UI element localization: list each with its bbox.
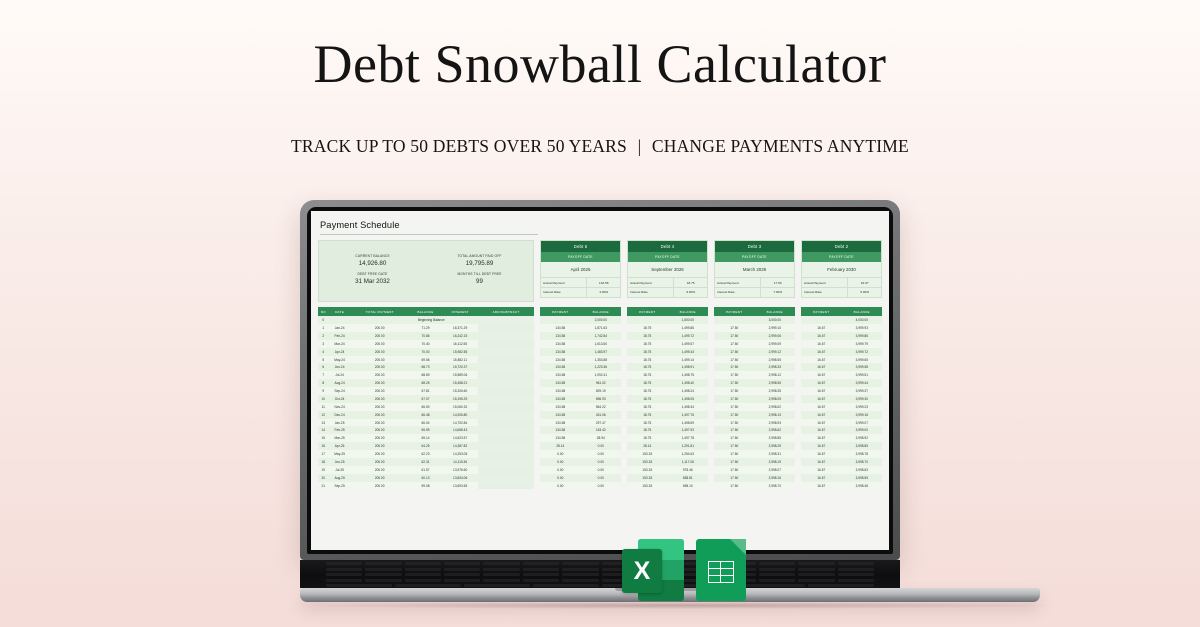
cell-balance: 1,483.97	[581, 348, 621, 356]
cell-balance: 3,999.16	[842, 411, 882, 419]
keyboard-key	[326, 562, 362, 565]
table-row[interactable]: 134.581,483.97	[540, 348, 621, 356]
table-row[interactable]: 134.581,353.88	[540, 356, 621, 364]
table-row[interactable]: 134.58961.02	[540, 379, 621, 387]
table-row[interactable]: 17.502,998.16	[714, 474, 795, 482]
cell-add-subtract[interactable]	[478, 363, 534, 371]
cell-add-subtract[interactable]	[478, 419, 534, 427]
cell-payment: 17.50	[714, 363, 755, 371]
payment-table-header-row: PAYMENTBALANCE	[801, 307, 882, 316]
cell-balance: 70.00	[409, 348, 442, 356]
cell-balance: 1,117.06	[668, 458, 708, 466]
cell-no: 13	[318, 419, 329, 427]
column-header[interactable]: PAYMENT	[540, 307, 581, 316]
cell-balance: 71.29	[409, 324, 442, 332]
cell-total-payment: 200.00	[351, 474, 409, 482]
cell-add-subtract[interactable]	[478, 332, 534, 340]
cell-total-payment: 200.00	[351, 411, 409, 419]
table-row[interactable]: 16.673,999.23	[801, 403, 882, 411]
debt-card-title: Debt 5	[541, 241, 620, 252]
cell-date: Nov-24	[329, 403, 351, 411]
cell-no: 7	[318, 371, 329, 379]
table-row[interactable]: 18.751,498.91	[627, 363, 708, 371]
payoff-date-value: April 2025	[541, 262, 620, 278]
cell-add-subtract[interactable]	[478, 450, 534, 458]
table-row[interactable]: 17.502,998.35	[714, 387, 795, 395]
cell-payment: 134.58	[540, 387, 581, 395]
table-row[interactable]: 16.673,998.70	[801, 458, 882, 466]
cell-interest: 14,926.80	[442, 411, 478, 419]
table-row[interactable]: 134.58431.06	[540, 411, 621, 419]
cell-payment: 16.67	[801, 482, 842, 490]
column-header[interactable]: PAYMENT	[801, 307, 842, 316]
cell-balance: 961.02	[581, 379, 621, 387]
cell-balance: 3,999.07	[842, 419, 882, 427]
cell-add-subtract[interactable]	[478, 442, 534, 450]
table-row[interactable]: 12Dec-24200.0066.4814,926.80	[318, 411, 534, 419]
table-row[interactable]: 28.140.00	[540, 442, 621, 450]
keyboard-row	[326, 568, 874, 571]
cell-payment: 18.75	[627, 332, 668, 340]
table-row[interactable]: 16.673,999.30	[801, 395, 882, 403]
cell-date: Aug-25	[329, 474, 351, 482]
table-row[interactable]: 134.581,223.36	[540, 363, 621, 371]
cell-date: Feb-24	[329, 332, 351, 340]
table-row[interactable]: 20Aug-25200.0060.1313,834.06	[318, 474, 534, 482]
table-row[interactable]: 17.502,998.05	[714, 395, 795, 403]
cell-payment: 18.75	[627, 363, 668, 371]
cell-interest: 15,326.60	[442, 387, 478, 395]
cell-balance: 3,999.30	[842, 395, 882, 403]
table-row[interactable]: 17.502,998.93	[714, 419, 795, 427]
cell-balance: 2,998.19	[755, 458, 795, 466]
payoff-date-label: PAYOFF DATE	[715, 252, 794, 261]
cell-balance: 64.25	[409, 442, 442, 450]
table-row[interactable]: 153.33838.81	[627, 474, 708, 482]
cell-balance: 431.06	[581, 411, 621, 419]
payment-schedule-table: NODATETOTAL PAYMENTBALANCEINTERESTADD/SU…	[318, 307, 534, 489]
keyboard-key	[483, 562, 519, 565]
cell-balance: 564.22	[581, 403, 621, 411]
cell-balance: 65.14	[409, 434, 442, 442]
table-row[interactable]: 8Aug-24200.0068.2515,458.21	[318, 379, 534, 387]
cell-balance: 1,742.84	[581, 332, 621, 340]
cell-no: 16	[318, 442, 329, 450]
debt-card: Debt 2PAYOFF DATEFebruary 2030Actual Pay…	[801, 240, 882, 298]
column-header[interactable]: BALANCE	[581, 307, 621, 316]
table-row[interactable]: 1,500.00	[627, 316, 708, 324]
cell-balance: 2,999.06	[755, 332, 795, 340]
column-header[interactable]: ADD/SUBTRACT	[478, 307, 534, 316]
cell-date: May-25	[329, 450, 351, 458]
cell-balance: 62.31	[409, 458, 442, 466]
table-row[interactable]: 16.673,999.72	[801, 348, 882, 356]
table-row[interactable]: 17.502,998.62	[714, 403, 795, 411]
cell-balance: 2,998.13	[755, 411, 795, 419]
cell-payment: 17.50	[714, 442, 755, 450]
keyboard-key	[523, 573, 559, 576]
cell-no: 4	[318, 348, 329, 356]
debt-payment-table: PAYMENTBALANCE4,000.0016.673,999.9316.67…	[801, 307, 882, 489]
column-header[interactable]: PAYMENT	[627, 307, 668, 316]
cell-total-payment: 200.00	[351, 450, 409, 458]
column-header[interactable]: BALANCE	[409, 307, 442, 316]
table-row[interactable]: 4,000.00	[801, 316, 882, 324]
cell-payment: 153.33	[627, 466, 668, 474]
cell-balance: 297.47	[581, 419, 621, 427]
table-row[interactable]: 153.33698.10	[627, 482, 708, 490]
cell-no: 3	[318, 340, 329, 348]
cell-payment: 18.75	[627, 340, 668, 348]
table-row[interactable]: 16.673,999.37	[801, 387, 882, 395]
table-row[interactable]: 2,000.00	[540, 316, 621, 324]
cell-payment	[627, 316, 668, 324]
cell-no: 12	[318, 411, 329, 419]
keyboard-key	[405, 568, 441, 571]
cell-balance: 1,499.72	[668, 332, 708, 340]
cell-interest: 14,253.05	[442, 450, 478, 458]
table-row[interactable]: 15Mar-25200.0065.1414,523.57	[318, 434, 534, 442]
cell-interest: 16,112.55	[442, 340, 478, 348]
table-row[interactable]: 0.000.00	[540, 474, 621, 482]
debt-card-title: Debt 4	[628, 241, 707, 252]
cell-date: Oct-24	[329, 395, 351, 403]
cell-payment: 153.33	[627, 482, 668, 490]
cell-balance: 163.42	[581, 426, 621, 434]
keyboard-key	[798, 579, 834, 582]
table-row[interactable]: 1Jan-24200.0071.2916,371.29	[318, 324, 534, 332]
table-row[interactable]: 134.58163.42	[540, 426, 621, 434]
cell-payment: 17.50	[714, 411, 755, 419]
spreadsheet-title: Payment Schedule	[318, 219, 882, 234]
table-row[interactable]: 16.673,999.51	[801, 371, 882, 379]
cell-balance: 66.48	[409, 411, 442, 419]
table-row[interactable]: 11Nov-24200.0066.5015,060.32	[318, 403, 534, 411]
table-row[interactable]: 16.673,998.85	[801, 442, 882, 450]
keyboard-key	[483, 573, 519, 576]
table-row[interactable]: 16.673,999.44	[801, 379, 882, 387]
interest-rate-row: Interest Rate4.00%	[541, 287, 620, 297]
table-row[interactable]: 16.673,999.58	[801, 363, 882, 371]
payoff-date-value: February 2030	[802, 262, 881, 278]
table-row[interactable]: 3Mar-24200.0070.4016,112.55	[318, 340, 534, 348]
column-header[interactable]: NO	[318, 307, 329, 316]
table-row[interactable]: 17.502,998.55	[714, 379, 795, 387]
interest-rate-value: 9.00%	[674, 288, 707, 297]
table-row[interactable]: 19Jul-25200.0061.5713,976.60	[318, 466, 534, 474]
table-row[interactable]: 7Jul-24200.0068.6915,589.06	[318, 371, 534, 379]
table-row[interactable]: 18.751,499.57	[627, 340, 708, 348]
cell-add-subtract[interactable]	[478, 371, 534, 379]
table-row[interactable]: 16.673,998.92	[801, 434, 882, 442]
table-row[interactable]: 0Beginning Balance	[318, 316, 534, 324]
table-row[interactable]: 134.58564.22	[540, 403, 621, 411]
cell-total-payment: 200.00	[351, 403, 409, 411]
table-row[interactable]: 0.000.00	[540, 482, 621, 490]
interest-rate-value: 5.00%	[848, 288, 881, 297]
cell-date: Apr-24	[329, 348, 351, 356]
cell-balance: 3,999.86	[842, 332, 882, 340]
table-row[interactable]: 17.502,999.09	[714, 340, 795, 348]
table-row[interactable]: 17.502,998.07	[714, 466, 795, 474]
column-header[interactable]: INTEREST	[442, 307, 478, 316]
cell-balance: 2,998.62	[755, 426, 795, 434]
cell-total-payment: 200.00	[351, 426, 409, 434]
table-row[interactable]: 17.502,998.19	[714, 458, 795, 466]
cell-payment: 17.50	[714, 450, 755, 458]
cell-add-subtract[interactable]	[478, 387, 534, 395]
keyboard-key	[523, 568, 559, 571]
keyboard-key	[798, 562, 834, 565]
table-row[interactable]: 18.751,499.86	[627, 324, 708, 332]
table-row[interactable]: 17.502,998.70	[714, 482, 795, 490]
cell-no: 5	[318, 356, 329, 364]
cell-payment: 17.50	[714, 379, 755, 387]
table-row[interactable]: 17.502,998.13	[714, 411, 795, 419]
cell-add-subtract[interactable]	[478, 434, 534, 442]
table-row[interactable]: 18Jun-25200.0062.3114,115.36	[318, 458, 534, 466]
table-row[interactable]: 16.673,999.07	[801, 419, 882, 427]
table-row[interactable]: 18.751,497.75	[627, 411, 708, 419]
cell-payment: 16.67	[801, 379, 842, 387]
cell-add-subtract[interactable]	[478, 356, 534, 364]
cell-payment: 134.58	[540, 348, 581, 356]
table-row[interactable]: 0.000.00	[540, 450, 621, 458]
cell-add-subtract[interactable]	[478, 458, 534, 466]
cell-balance: 0.00	[581, 482, 621, 490]
cell-payment: 17.50	[714, 371, 755, 379]
cell-interest: 14,658.43	[442, 426, 478, 434]
cell-balance: 2,999.10	[755, 324, 795, 332]
table-row[interactable]: 18.751,497.78	[627, 434, 708, 442]
cell-balance: 3,999.44	[842, 379, 882, 387]
keyboard-key	[808, 584, 874, 587]
laptop-bezel: Payment Schedule CURRENT BALANCE 14,926.…	[307, 207, 893, 554]
table-row[interactable]: 16.673,998.78	[801, 450, 882, 458]
cell-balance: 2,998.35	[755, 387, 795, 395]
cell-add-subtract[interactable]	[478, 403, 534, 411]
column-header[interactable]: PAYMENT	[714, 307, 755, 316]
table-row[interactable]: 6Jun-24200.0068.7315,720.37	[318, 363, 534, 371]
table-row[interactable]: 13Jan-25200.0066.0414,792.84	[318, 419, 534, 427]
cell-payment: 18.75	[627, 324, 668, 332]
table-row[interactable]: 134.581,742.84	[540, 332, 621, 340]
table-row[interactable]: 17.502,998.62	[714, 426, 795, 434]
table-row[interactable]: 18.751,499.43	[627, 348, 708, 356]
table-row[interactable]: 16.673,998.55	[801, 474, 882, 482]
table-row[interactable]: 18.751,497.93	[627, 426, 708, 434]
cell-add-subtract[interactable]	[478, 379, 534, 387]
cell-date: Jul-24	[329, 371, 351, 379]
cell-payment: 18.75	[627, 356, 668, 364]
cell-balance: 3,998.92	[842, 434, 882, 442]
cell-payment	[540, 316, 581, 324]
table-row[interactable]: 18.751,499.72	[627, 332, 708, 340]
table-row[interactable]: 17.502,998.29	[714, 442, 795, 450]
cell-add-subtract[interactable]	[478, 426, 534, 434]
cell-no: 10	[318, 395, 329, 403]
cell-add-subtract[interactable]	[478, 324, 534, 332]
table-row[interactable]: 4Apr-24200.0070.0015,982.55	[318, 348, 534, 356]
table-row[interactable]: 16.673,998.48	[801, 482, 882, 490]
table-row[interactable]: 17.502,999.10	[714, 324, 795, 332]
actual-payment-label: Actual Payment	[541, 278, 587, 287]
cell-add-subtract[interactable]	[478, 348, 534, 356]
table-row[interactable]: 18.751,498.69	[627, 419, 708, 427]
table-row[interactable]: 17.502,999.06	[714, 332, 795, 340]
table-row[interactable]: 28.141,291.81	[627, 442, 708, 450]
keyboard-key	[405, 579, 441, 582]
table-row[interactable]: 14Feb-25200.0065.5914,658.43	[318, 426, 534, 434]
table-row[interactable]: 134.58696.93	[540, 395, 621, 403]
debt-card: Debt 4PAYOFF DATESeptember 2026Actual Pa…	[627, 240, 708, 298]
cell-date: Sep-25	[329, 482, 351, 490]
table-row[interactable]: 16.673,999.79	[801, 340, 882, 348]
cell-payment: 16.67	[801, 419, 842, 427]
cell-date: Mar-24	[329, 340, 351, 348]
interest-rate-row: Interest Rate7.00%	[715, 287, 794, 297]
cell-payment: 134.58	[540, 426, 581, 434]
table-row[interactable]: 153.331,117.06	[627, 458, 708, 466]
cell-payment: 16.67	[801, 387, 842, 395]
cell-payment: 17.50	[714, 395, 755, 403]
table-row[interactable]: 134.58829.19	[540, 387, 621, 395]
payoff-date-label: PAYOFF DATE	[628, 252, 707, 261]
cell-total-payment: 200.00	[351, 419, 409, 427]
cell-interest: 14,523.57	[442, 434, 478, 442]
cell-add-subtract[interactable]	[478, 474, 534, 482]
cell-total-payment: 200.00	[351, 363, 409, 371]
cell-balance: 3,998.78	[842, 450, 882, 458]
table-row[interactable]: 153.33978.46	[627, 466, 708, 474]
cell-balance: 1,499.57	[668, 340, 708, 348]
table-row[interactable]: 16.673,999.00	[801, 426, 882, 434]
table-row[interactable]: 17.502,999.12	[714, 348, 795, 356]
cell-interest: 14,115.36	[442, 458, 478, 466]
table-row[interactable]: 18.751,498.40	[627, 379, 708, 387]
cell-payment: 17.50	[714, 434, 755, 442]
cell-balance: 1,498.05	[668, 395, 708, 403]
cell-total-payment: 200.00	[351, 379, 409, 387]
column-header[interactable]: BALANCE	[668, 307, 708, 316]
main-table-body: 0Beginning Balance1Jan-24200.0071.2916,3…	[318, 316, 534, 489]
microsoft-excel-icon[interactable]: X	[622, 539, 684, 601]
table-row[interactable]: 17May-25200.0062.2314,253.05	[318, 450, 534, 458]
table-row[interactable]: 16.673,999.93	[801, 324, 882, 332]
cell-balance: 3,998.55	[842, 474, 882, 482]
keyboard-key	[365, 568, 401, 571]
table-row[interactable]: 153.331,254.63	[627, 450, 708, 458]
cell-balance: 1,092.41	[581, 371, 621, 379]
cell-balance: 59.08	[409, 482, 442, 490]
table-row[interactable]: 21Sep-25200.0059.0813,693.65	[318, 482, 534, 490]
table-row[interactable]: 16Apr-25200.0064.2514,387.82	[318, 442, 534, 450]
table-row[interactable]: 3,000.00	[714, 316, 795, 324]
cell-balance: 1,498.40	[668, 379, 708, 387]
table-row[interactable]: 5May-24200.0069.5615,852.11	[318, 356, 534, 364]
table-row[interactable]: 134.581,871.63	[540, 324, 621, 332]
summary-card: CURRENT BALANCE 14,926.80 DEBT FREE DATE…	[318, 240, 534, 302]
column-header[interactable]: BALANCE	[842, 307, 882, 316]
table-row[interactable]: 17.502,998.31	[714, 450, 795, 458]
table-row[interactable]: 17.502,998.33	[714, 363, 795, 371]
table-row[interactable]: 17.502,998.85	[714, 434, 795, 442]
cell-payment: 28.14	[627, 442, 668, 450]
subtitle-right-text: CHANGE PAYMENTS ANYTIME	[652, 136, 909, 156]
keyboard-key	[326, 584, 392, 587]
cell-payment: 18.75	[627, 434, 668, 442]
debt-card: Debt 3PAYOFF DATEMarch 2028Actual Paymen…	[714, 240, 795, 298]
table-row[interactable]: 2Feb-24200.0070.8616,242.15	[318, 332, 534, 340]
table-row[interactable]: 17.502,998.12	[714, 371, 795, 379]
cell-add-subtract[interactable]	[478, 395, 534, 403]
cell-date: Mar-25	[329, 434, 351, 442]
cell-opening-balance: 2,000.00	[581, 316, 621, 324]
table-row[interactable]: 134.581,613.60	[540, 340, 621, 348]
payment-table-body: 1,500.0018.751,499.8618.751,499.7218.751…	[627, 316, 708, 489]
table-row[interactable]: 16.673,999.16	[801, 411, 882, 419]
table-row[interactable]: 10Oct-24200.0067.0715,195.29	[318, 395, 534, 403]
column-header[interactable]: DATE	[329, 307, 351, 316]
table-row[interactable]: 0.000.00	[540, 458, 621, 466]
table-row[interactable]: 18.751,499.14	[627, 356, 708, 364]
table-row[interactable]: 16.673,998.63	[801, 466, 882, 474]
cell-payment: 18.75	[627, 419, 668, 427]
cell-payment: 16.67	[801, 395, 842, 403]
actual-payment-value: 17.50	[761, 278, 794, 287]
table-row[interactable]: 134.581,092.41	[540, 371, 621, 379]
table-row[interactable]: 134.5828.94	[540, 434, 621, 442]
current-balance-label: CURRENT BALANCE	[355, 254, 390, 258]
cell-balance: 70.86	[409, 332, 442, 340]
cell-payment: 134.58	[540, 356, 581, 364]
cell-payment: 17.50	[714, 356, 755, 364]
cell-opening-balance: 1,500.00	[668, 316, 708, 324]
table-row[interactable]: 18.751,498.34	[627, 403, 708, 411]
cell-payment: 18.75	[627, 403, 668, 411]
summary-left-column: CURRENT BALANCE 14,926.80 DEBT FREE DATE…	[319, 241, 426, 301]
table-row[interactable]: 17.502,998.55	[714, 356, 795, 364]
cell-total-payment: 200.00	[351, 395, 409, 403]
cell-add-subtract[interactable]	[478, 340, 534, 348]
table-row[interactable]: 16.673,999.86	[801, 332, 882, 340]
table-row[interactable]: 9Sep-24200.0067.8115,326.60	[318, 387, 534, 395]
table-row[interactable]: 134.58297.47	[540, 419, 621, 427]
keyboard-key	[405, 562, 441, 565]
cell-add-subtract[interactable]	[478, 482, 534, 490]
column-header[interactable]: BALANCE	[755, 307, 795, 316]
table-row[interactable]: 18.751,498.75	[627, 371, 708, 379]
cell-add-subtract[interactable]	[478, 466, 534, 474]
interest-rate-value: 4.00%	[587, 288, 620, 297]
cell-date: Jan-25	[329, 419, 351, 427]
cell-balance: 61.57	[409, 466, 442, 474]
cell-add-subtract[interactable]	[478, 411, 534, 419]
google-sheets-icon[interactable]	[696, 539, 746, 601]
cell-balance: 2,998.12	[755, 371, 795, 379]
cell-balance: 28.94	[581, 434, 621, 442]
cell-balance: 3,999.72	[842, 348, 882, 356]
hero-section: Debt Snowball Calculator TRACK UP TO 50 …	[0, 0, 1200, 157]
table-row[interactable]: 18.751,498.05	[627, 395, 708, 403]
cell-interest: 13,834.06	[442, 474, 478, 482]
cell-payment: 16.67	[801, 442, 842, 450]
table-row[interactable]: 0.000.00	[540, 466, 621, 474]
table-row[interactable]: 18.751,498.24	[627, 387, 708, 395]
payment-table-body: 2,000.00134.581,871.63134.581,742.84134.…	[540, 316, 621, 489]
column-header[interactable]: TOTAL PAYMENT	[351, 307, 409, 316]
table-row[interactable]: 16.673,999.65	[801, 356, 882, 364]
